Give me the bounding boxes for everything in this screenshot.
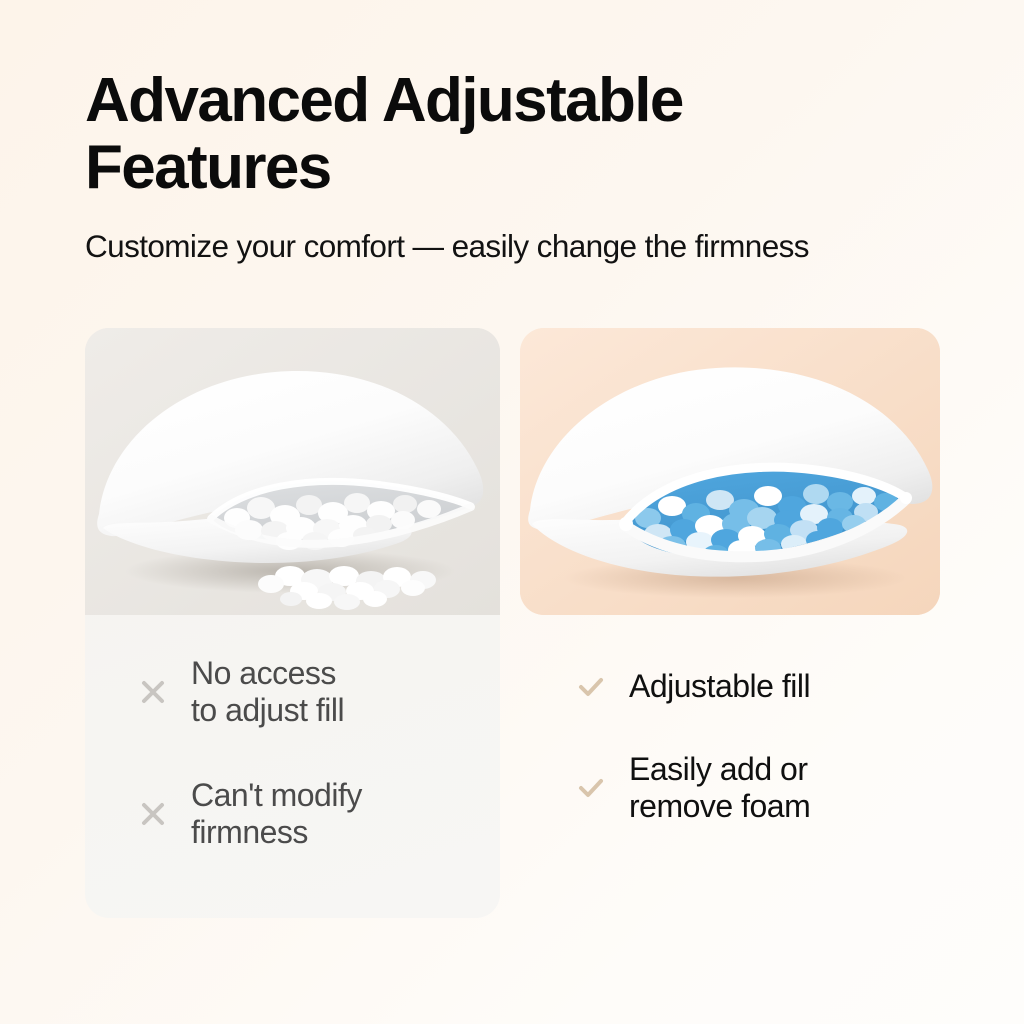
list-item-line1: No access	[191, 655, 344, 692]
cross-icon	[137, 676, 169, 708]
check-icon	[575, 671, 607, 703]
comparison-card-right	[520, 328, 940, 615]
comparison-cards: No access to adjust fill Can't modify fi…	[0, 0, 1024, 1024]
pillow-photo-left	[85, 328, 500, 615]
list-item: Easily add or remove foam	[575, 751, 965, 825]
list-item-text: Can't modify firmness	[191, 777, 362, 851]
list-item-line1: Easily add or	[629, 751, 810, 788]
list-item-line1: Adjustable fill	[629, 668, 810, 705]
list-item: No access to adjust fill	[137, 655, 507, 729]
list-item-line1: Can't modify	[191, 777, 362, 814]
bullet-list-right: Adjustable fill Easily add or remove foa…	[575, 668, 965, 825]
list-item-line2: remove foam	[629, 788, 810, 825]
cross-icon	[137, 798, 169, 830]
pillow-illustration-blue-foam	[520, 328, 940, 615]
list-item-line2: firmness	[191, 814, 362, 851]
pillow-illustration-white-foam	[85, 328, 500, 615]
list-item-line2: to adjust fill	[191, 692, 344, 729]
list-item-text: Adjustable fill	[629, 668, 810, 705]
list-item: Adjustable fill	[575, 668, 965, 705]
list-item-text: No access to adjust fill	[191, 655, 344, 729]
list-item: Can't modify firmness	[137, 777, 507, 851]
list-item-text: Easily add or remove foam	[629, 751, 810, 825]
bullet-list-left: No access to adjust fill Can't modify fi…	[137, 655, 507, 851]
check-icon	[575, 772, 607, 804]
